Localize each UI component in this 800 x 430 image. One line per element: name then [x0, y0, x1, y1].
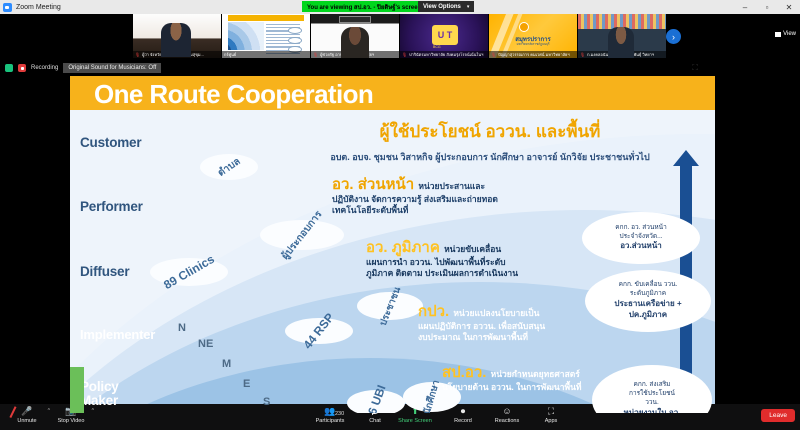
callout-bold: หน่วยงานใน อว. [624, 408, 681, 413]
thumbnail-shared-screen[interactable]: กร์ศูนย์ [222, 14, 310, 58]
reactions-label: Reactions [484, 418, 530, 424]
callout-bold: อว.ส่วนหน้า [620, 241, 662, 252]
callout-line-2: ระดับภูมิภาค [630, 290, 666, 299]
pill-people: ประชาชน [357, 292, 423, 320]
slide-canvas: Customer Performer Diffuser Implementer … [70, 110, 715, 413]
callout-bold: ประธานเครือข่าย + [614, 299, 681, 310]
shared-slide: One Route Cooperation Customer Performer… [70, 76, 715, 413]
apps-button[interactable]: ⛶ Apps [528, 406, 574, 424]
slide-title-bar: One Route Cooperation [70, 76, 715, 110]
zoom-logo-icon [3, 3, 12, 12]
block-performer-heading: อว. ส่วนหน้า [332, 176, 414, 193]
view-layout-button[interactable]: View [775, 31, 796, 37]
block-customer-detail: อบต. อบจ. ชุมชน วิสาหกิจ ผู้ประกอบการ นั… [280, 150, 700, 164]
callout-bold-2: ปค.ภูมิภาค [629, 310, 667, 321]
slide-title: One Route Cooperation [94, 79, 373, 110]
participants-button[interactable]: 👥230 Participants ^ [307, 406, 353, 424]
pill-tambon: ตำบล [200, 154, 258, 180]
block-policy-subtitle: หน่วยกำหนดยุทธศาสตร์ [491, 369, 580, 379]
leave-button[interactable]: Leave [761, 409, 795, 422]
pill-label: นักศึกษา [420, 378, 444, 413]
recording-status-bar: Recording Original Sound for Musicians: … [0, 60, 800, 76]
stage-label-performer: Performer [80, 200, 143, 214]
participants-label: Participants [307, 418, 353, 424]
callout-line-1: คกก. อว. ส่วนหน้า [615, 224, 666, 233]
policy-line-2: Maker [80, 394, 119, 408]
stage-label-customer: Customer [80, 136, 141, 150]
stage-label-implementer: Implementer [80, 328, 155, 342]
policy-line-1: Policy [80, 380, 119, 394]
recording-indicator-icon[interactable] [18, 64, 26, 72]
mic-muted-icon: 🎙 [491, 52, 496, 57]
callout-line-2: การใช้ประโยชน์ [629, 390, 675, 399]
region-label-ne: NE [198, 338, 213, 350]
thumbnail-name: ผู้ช่วยรัฐ อาจารย์ มหาวิทยาลัยฯ [320, 51, 374, 58]
stage-label-policy-maker: Policy Maker [80, 380, 119, 408]
next-thumbnails-button[interactable]: › [666, 29, 681, 44]
stage-label-column: Customer Performer Diffuser Implementer … [70, 110, 190, 413]
block-implementer-subtitle: หน่วยแปลงนโยบายเป็น [453, 308, 539, 318]
app-title: Zoom Meeting [16, 4, 61, 11]
unmute-label: Unmute [4, 418, 50, 424]
recording-label: Recording [31, 65, 58, 71]
thumbnail-list: 🎙 ผู้ว่า จังหวัด เทศบาล นครปฐมสุขุม... ก… [133, 14, 666, 58]
fullscreen-icon[interactable]: ⛶ [688, 62, 702, 73]
thumbnail-name: ก.มงคลอนันต์ คมคิด สุภัทรพันธุ์ วิทยาฯ [587, 51, 654, 58]
block-performer-subtitle: หน่วยประสานและ [418, 181, 485, 191]
mic-muted-icon: 🎙 [580, 52, 585, 57]
block-customer: ผู้ใช้ประโยชน์ อววน. และพื้นที่ อบต. อบจ… [280, 118, 700, 164]
block-diffuser-heading: อว. ภูมิภาค [366, 239, 440, 256]
unmute-button[interactable]: 🎤 Unmute ^ [4, 406, 50, 424]
original-sound-chip[interactable]: Original Sound for Musicians: Off [63, 63, 161, 73]
pill-rsp: 44 RSP [285, 318, 353, 344]
participants-count: 230 [335, 409, 344, 420]
close-button[interactable]: ✕ [778, 0, 800, 14]
people-icon: 👥230 [307, 406, 353, 417]
callout-diffuser: คกก. ขับเคลื่อน ววน. ระดับภูมิภาค ประธาน… [585, 270, 711, 332]
block-policy-heading: สป.อว. [442, 364, 486, 381]
thumbnail-name: ผู้ว่า จังหวัด เทศบาล นครปฐมสุขุม... [142, 51, 204, 58]
participant-thumbnail-strip: 🎙 ผู้ว่า จังหวัด เทศบาล นครปฐมสุขุม... ก… [0, 14, 800, 58]
share-screen-label: Share Screen [392, 418, 438, 424]
mic-muted-icon: 🎙 [135, 52, 140, 57]
pill-entrepreneur: ผู้ประกอบการ [260, 220, 344, 250]
thumbnail-name: กร์ศูนย์ [224, 51, 236, 58]
viewing-screen-banner: You are viewing สป.อว. - ปิยดิษฐ์'s scre… [302, 1, 426, 12]
chevron-down-icon: ▾ [467, 4, 470, 10]
stop-video-label: Stop Video [48, 418, 94, 424]
region-label-e: E [243, 378, 250, 390]
zoom-meeting-window: Zoom Meeting You are viewing สป.อว. - ปิ… [0, 0, 800, 430]
thumbnail-name: ปาริฉัตรมหาวิทยาลัย สังคมรุ่งโรจน์เน้นใน… [409, 51, 483, 58]
green-accent-bar [70, 367, 84, 413]
block-diffuser-subtitle: หน่วยขับเคลื่อน [444, 244, 501, 254]
callout-line-1: คกก. ส่งเสริม [634, 381, 671, 390]
stage-label-diffuser: Diffuser [80, 265, 129, 279]
grid-view-icon [775, 32, 781, 37]
window-controls: – ▫ ✕ [734, 0, 800, 14]
thumbnail-participant[interactable]: 🎙 ผู้ว่า จังหวัด เทศบาล นครปฐมสุขุม... [133, 14, 221, 58]
region-label-s: S [263, 396, 270, 408]
title-bar: Zoom Meeting You are viewing สป.อว. - ปิ… [0, 0, 800, 14]
mic-muted-icon: 🎙 [313, 52, 318, 57]
view-label: View [783, 31, 796, 37]
thumbnail-participant[interactable]: U TBCG 🎙 ปาริฉัตรมหาวิทยาลัย สังคมรุ่งโร… [400, 14, 488, 58]
region-label-m: M [222, 358, 231, 370]
view-options-button[interactable]: View Options ▾ [418, 1, 474, 12]
record-label: Record [440, 418, 486, 424]
callout-line-1: คกก. ขับเคลื่อน ววน. [619, 281, 678, 290]
encryption-shield-icon[interactable] [5, 64, 13, 72]
apps-icon: ⛶ [528, 406, 574, 417]
minimize-button[interactable]: – [734, 0, 756, 14]
region-label-bkk: BKK [278, 412, 302, 413]
microphone-muted-icon: 🎤 [4, 406, 50, 417]
thumbnail-participant[interactable]: 🎙 ก.มงคลอนันต์ คมคิด สุภัทรพันธุ์ วิทยาฯ [578, 14, 666, 58]
maximize-button[interactable]: ▫ [756, 0, 778, 14]
mic-muted-icon: 🎙 [402, 52, 407, 57]
block-performer: อว. ส่วนหน้า หน่วยประสานและ ปฏิบัติงาน จ… [332, 177, 632, 216]
pill-label: ตำบล [215, 154, 244, 180]
thumbnail-participant[interactable]: 🎙 ผู้ช่วยรัฐ อาจารย์ มหาวิทยาลัยฯ [311, 14, 399, 58]
block-customer-heading: ผู้ใช้ประโยชน์ อววน. และพื้นที่ [280, 118, 700, 145]
reactions-icon: ☺ [484, 406, 530, 417]
callout-performer: คกก. อว. ส่วนหน้า ประจำจังหวัด... อว.ส่ว… [582, 212, 700, 264]
callout-line-3: ววน. [645, 399, 659, 408]
block-performer-body: ปฏิบัติงาน จัดการความรู้ ส่งเสริมและถ่าย… [332, 194, 632, 217]
thumbnail-name: ปัญญาสุวรรณการ คมเวศน์ มหาวิทยาลัยฯ [498, 51, 570, 58]
reactions-button[interactable]: ☺ Reactions [484, 406, 530, 424]
view-options-label: View Options [423, 4, 461, 10]
apps-label: Apps [528, 418, 574, 424]
block-implementer-heading: กปว. [418, 303, 449, 320]
pill-ubi: 56 UBI [347, 390, 405, 413]
thumbnail-participant[interactable]: สมุทรปราการมหาวิทยาลัยราชภัฏธนบุรี 🎙 ปัญ… [489, 14, 577, 58]
